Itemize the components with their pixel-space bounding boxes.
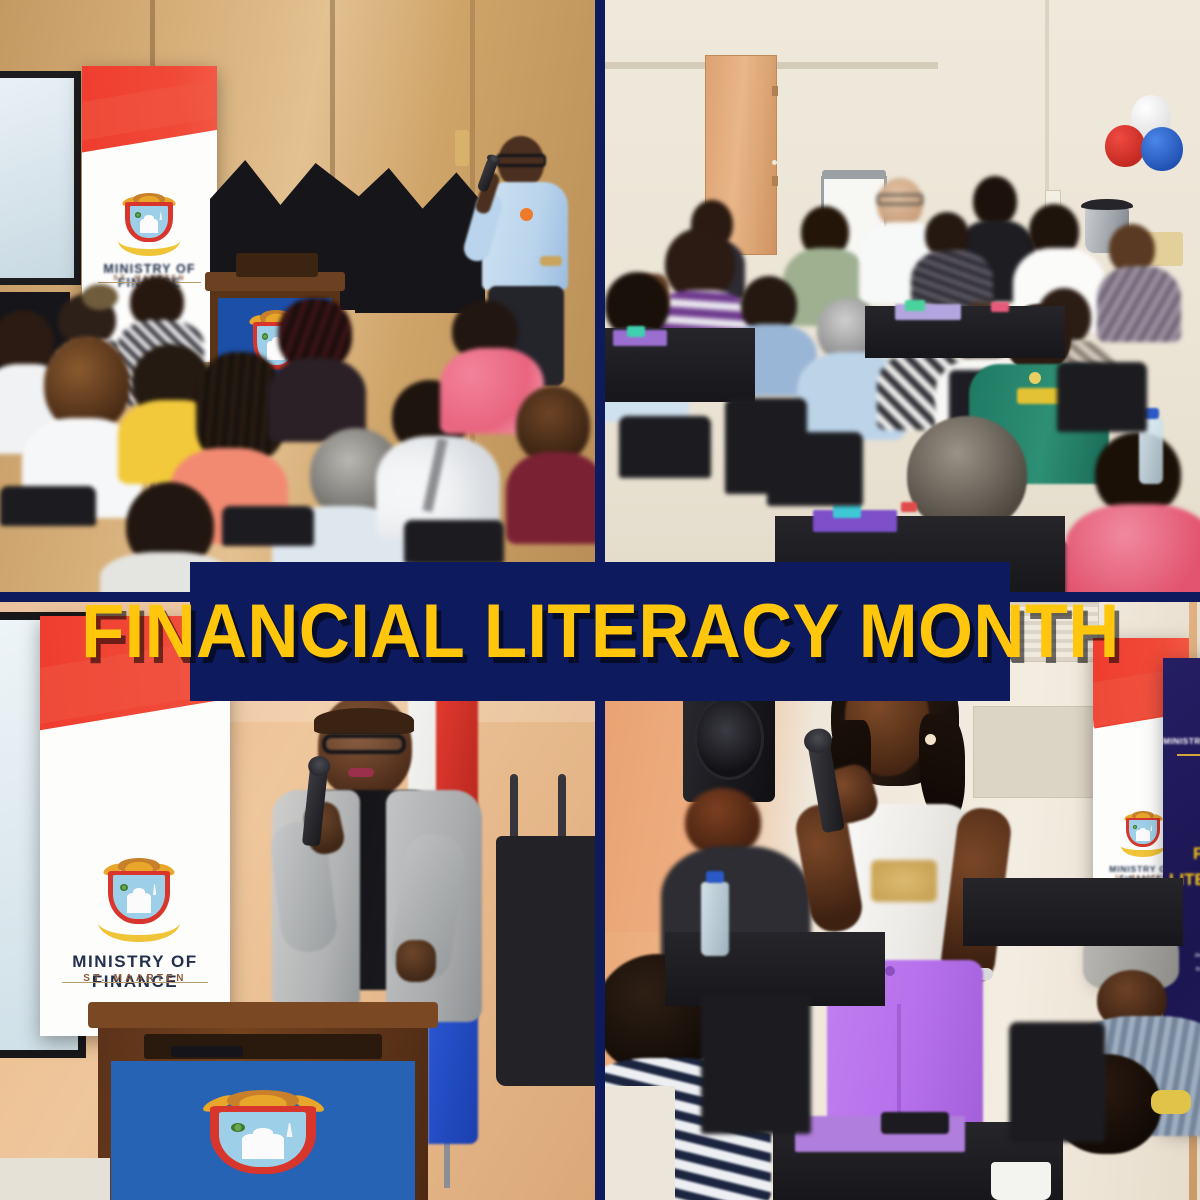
balloon-cluster <box>1105 95 1200 185</box>
banner-title-bl: MINISTRY OF FINANCE <box>40 952 230 992</box>
banner-title: FINANCIAL LITERACY MONTH <box>81 594 1120 670</box>
coat-of-arms-icon <box>98 860 180 940</box>
photo-collage: MINISTRY OF FINANCE ST. MAARTEN <box>0 0 1200 1200</box>
podium-bl <box>98 1002 428 1200</box>
banner-subtitle-bl: ST. MAARTEN <box>40 973 230 984</box>
navy-banner-header: MINISTRY OF FINANCE <box>1163 736 1200 746</box>
coat-of-arms-icon <box>118 194 180 254</box>
photo-panel-top-right <box>605 0 1200 592</box>
navy-banner-headline1: FINANCIAL <box>1193 844 1200 864</box>
financial-literacy-month-banner: FINANCIAL LITERACY MONTH <box>190 562 1010 701</box>
photo-panel-top-left: MINISTRY OF FINANCE ST. MAARTEN <box>0 0 595 592</box>
